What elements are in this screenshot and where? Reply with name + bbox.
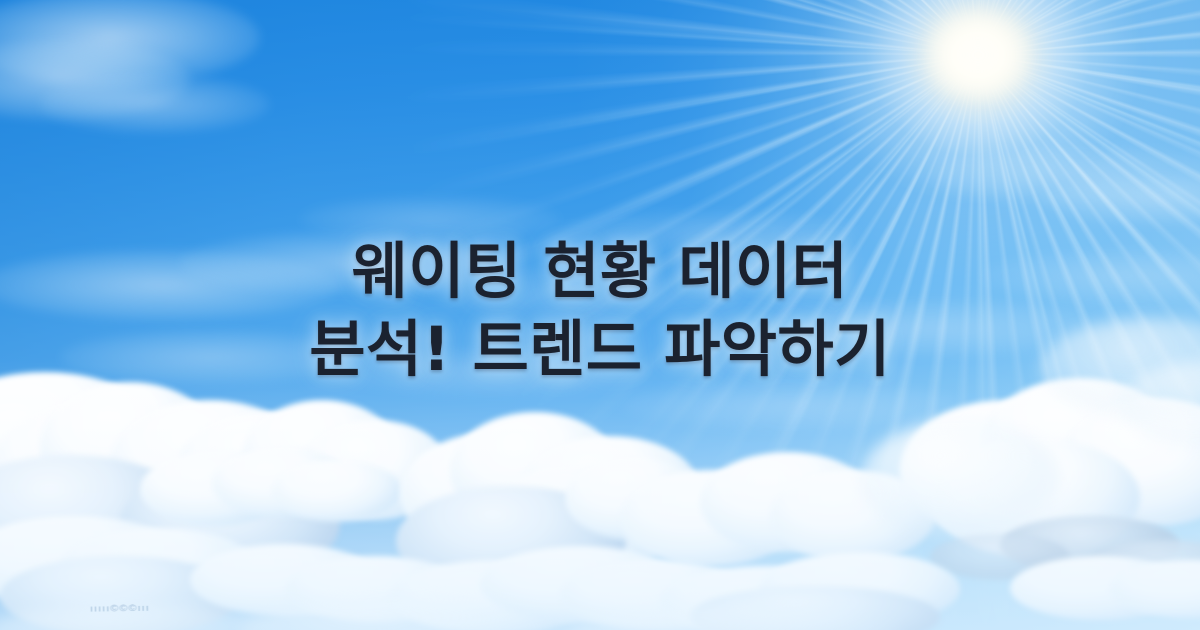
banner-canvas: 웨이팅 현황 데이터 분석! 트렌드 파악하기 ııııı©©©ııı	[0, 0, 1200, 630]
sky-horizontal-tint	[0, 0, 1200, 630]
